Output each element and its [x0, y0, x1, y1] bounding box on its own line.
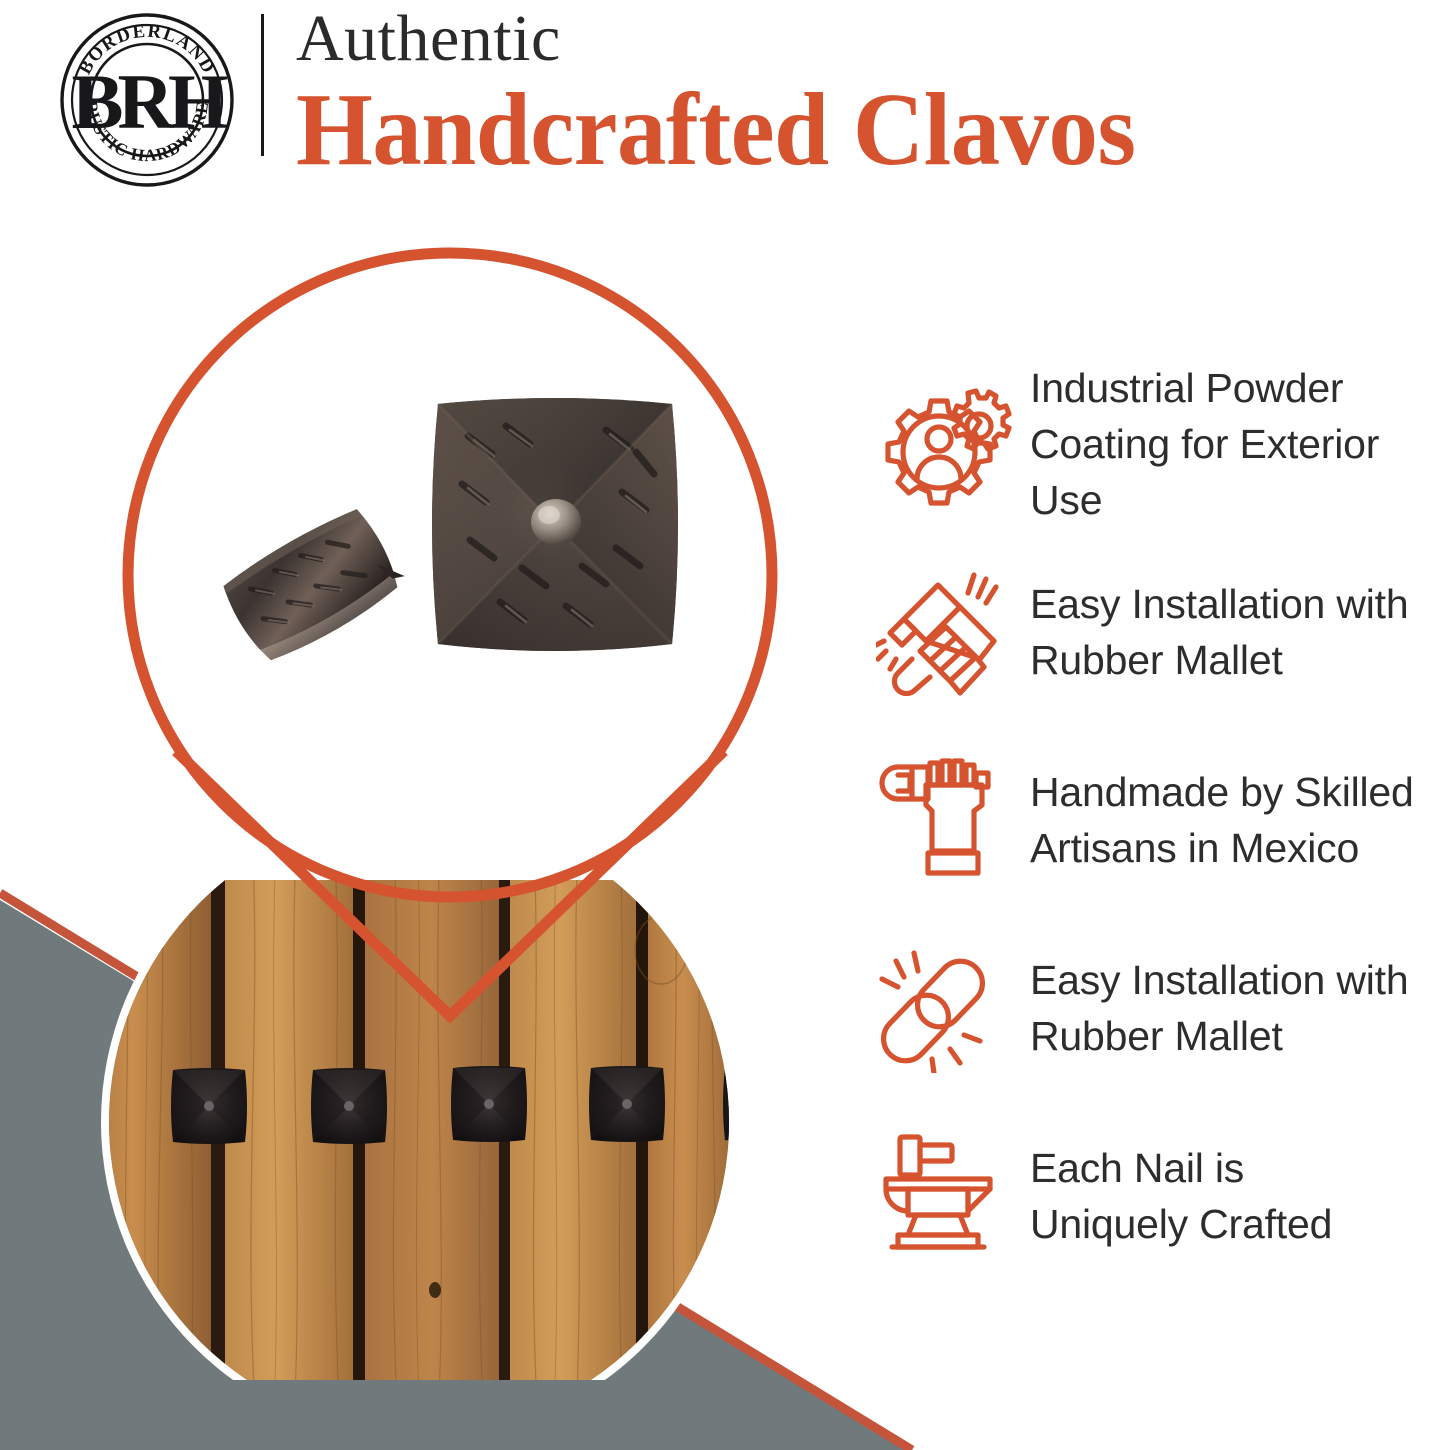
feature-label-easy-install-bottom: Easy Installation with Rubber Mallet: [1030, 952, 1408, 1064]
brand-logo: BORDERLAND RUSTIC HARDWARE BRH: [57, 10, 237, 190]
anvil-hammer-icon: [862, 1126, 1030, 1266]
infographic-canvas: BORDERLAND RUSTIC HARDWARE BRH Authentic…: [0, 0, 1448, 1450]
gear-person-icon: [862, 374, 1030, 514]
header: BORDERLAND RUSTIC HARDWARE BRH Authentic…: [0, 0, 1448, 200]
header-divider: [261, 14, 264, 156]
logo-monogram: BRH: [71, 58, 227, 145]
feature-item-handmade: Handmade by Skilled Artisans in Mexico: [862, 746, 1448, 894]
chain-link-icon: [862, 938, 1030, 1078]
fist-wrench-icon: [862, 750, 1030, 890]
feature-item-easy-install-bottom: Easy Installation with Rubber Mallet: [862, 934, 1448, 1082]
title-line-handcrafted-clavos: Handcrafted Clavos: [296, 76, 1379, 184]
feature-item-unique-nail: Each Nail is Uniquely Crafted: [862, 1122, 1448, 1270]
feature-item-easy-install-top: Easy Installation with Rubber Mallet: [862, 558, 1448, 706]
feature-label-unique-nail: Each Nail is Uniquely Crafted: [1030, 1140, 1332, 1252]
map-pin-outline: [96, 228, 816, 1028]
title-line-authentic: Authentic: [296, 2, 1436, 76]
header-titles: Authentic Handcrafted Clavos: [296, 2, 1436, 184]
feature-label-powder-coating: Industrial Powder Coating for Exterior U…: [1030, 360, 1448, 528]
feature-label-easy-install-top: Easy Installation with Rubber Mallet: [1030, 576, 1408, 688]
hand-power-tool-icon: [862, 562, 1030, 702]
feature-list: Industrial Powder Coating for Exterior U…: [862, 370, 1448, 1270]
feature-label-handmade: Handmade by Skilled Artisans in Mexico: [1030, 764, 1414, 876]
feature-item-powder-coating: Industrial Powder Coating for Exterior U…: [862, 370, 1448, 518]
